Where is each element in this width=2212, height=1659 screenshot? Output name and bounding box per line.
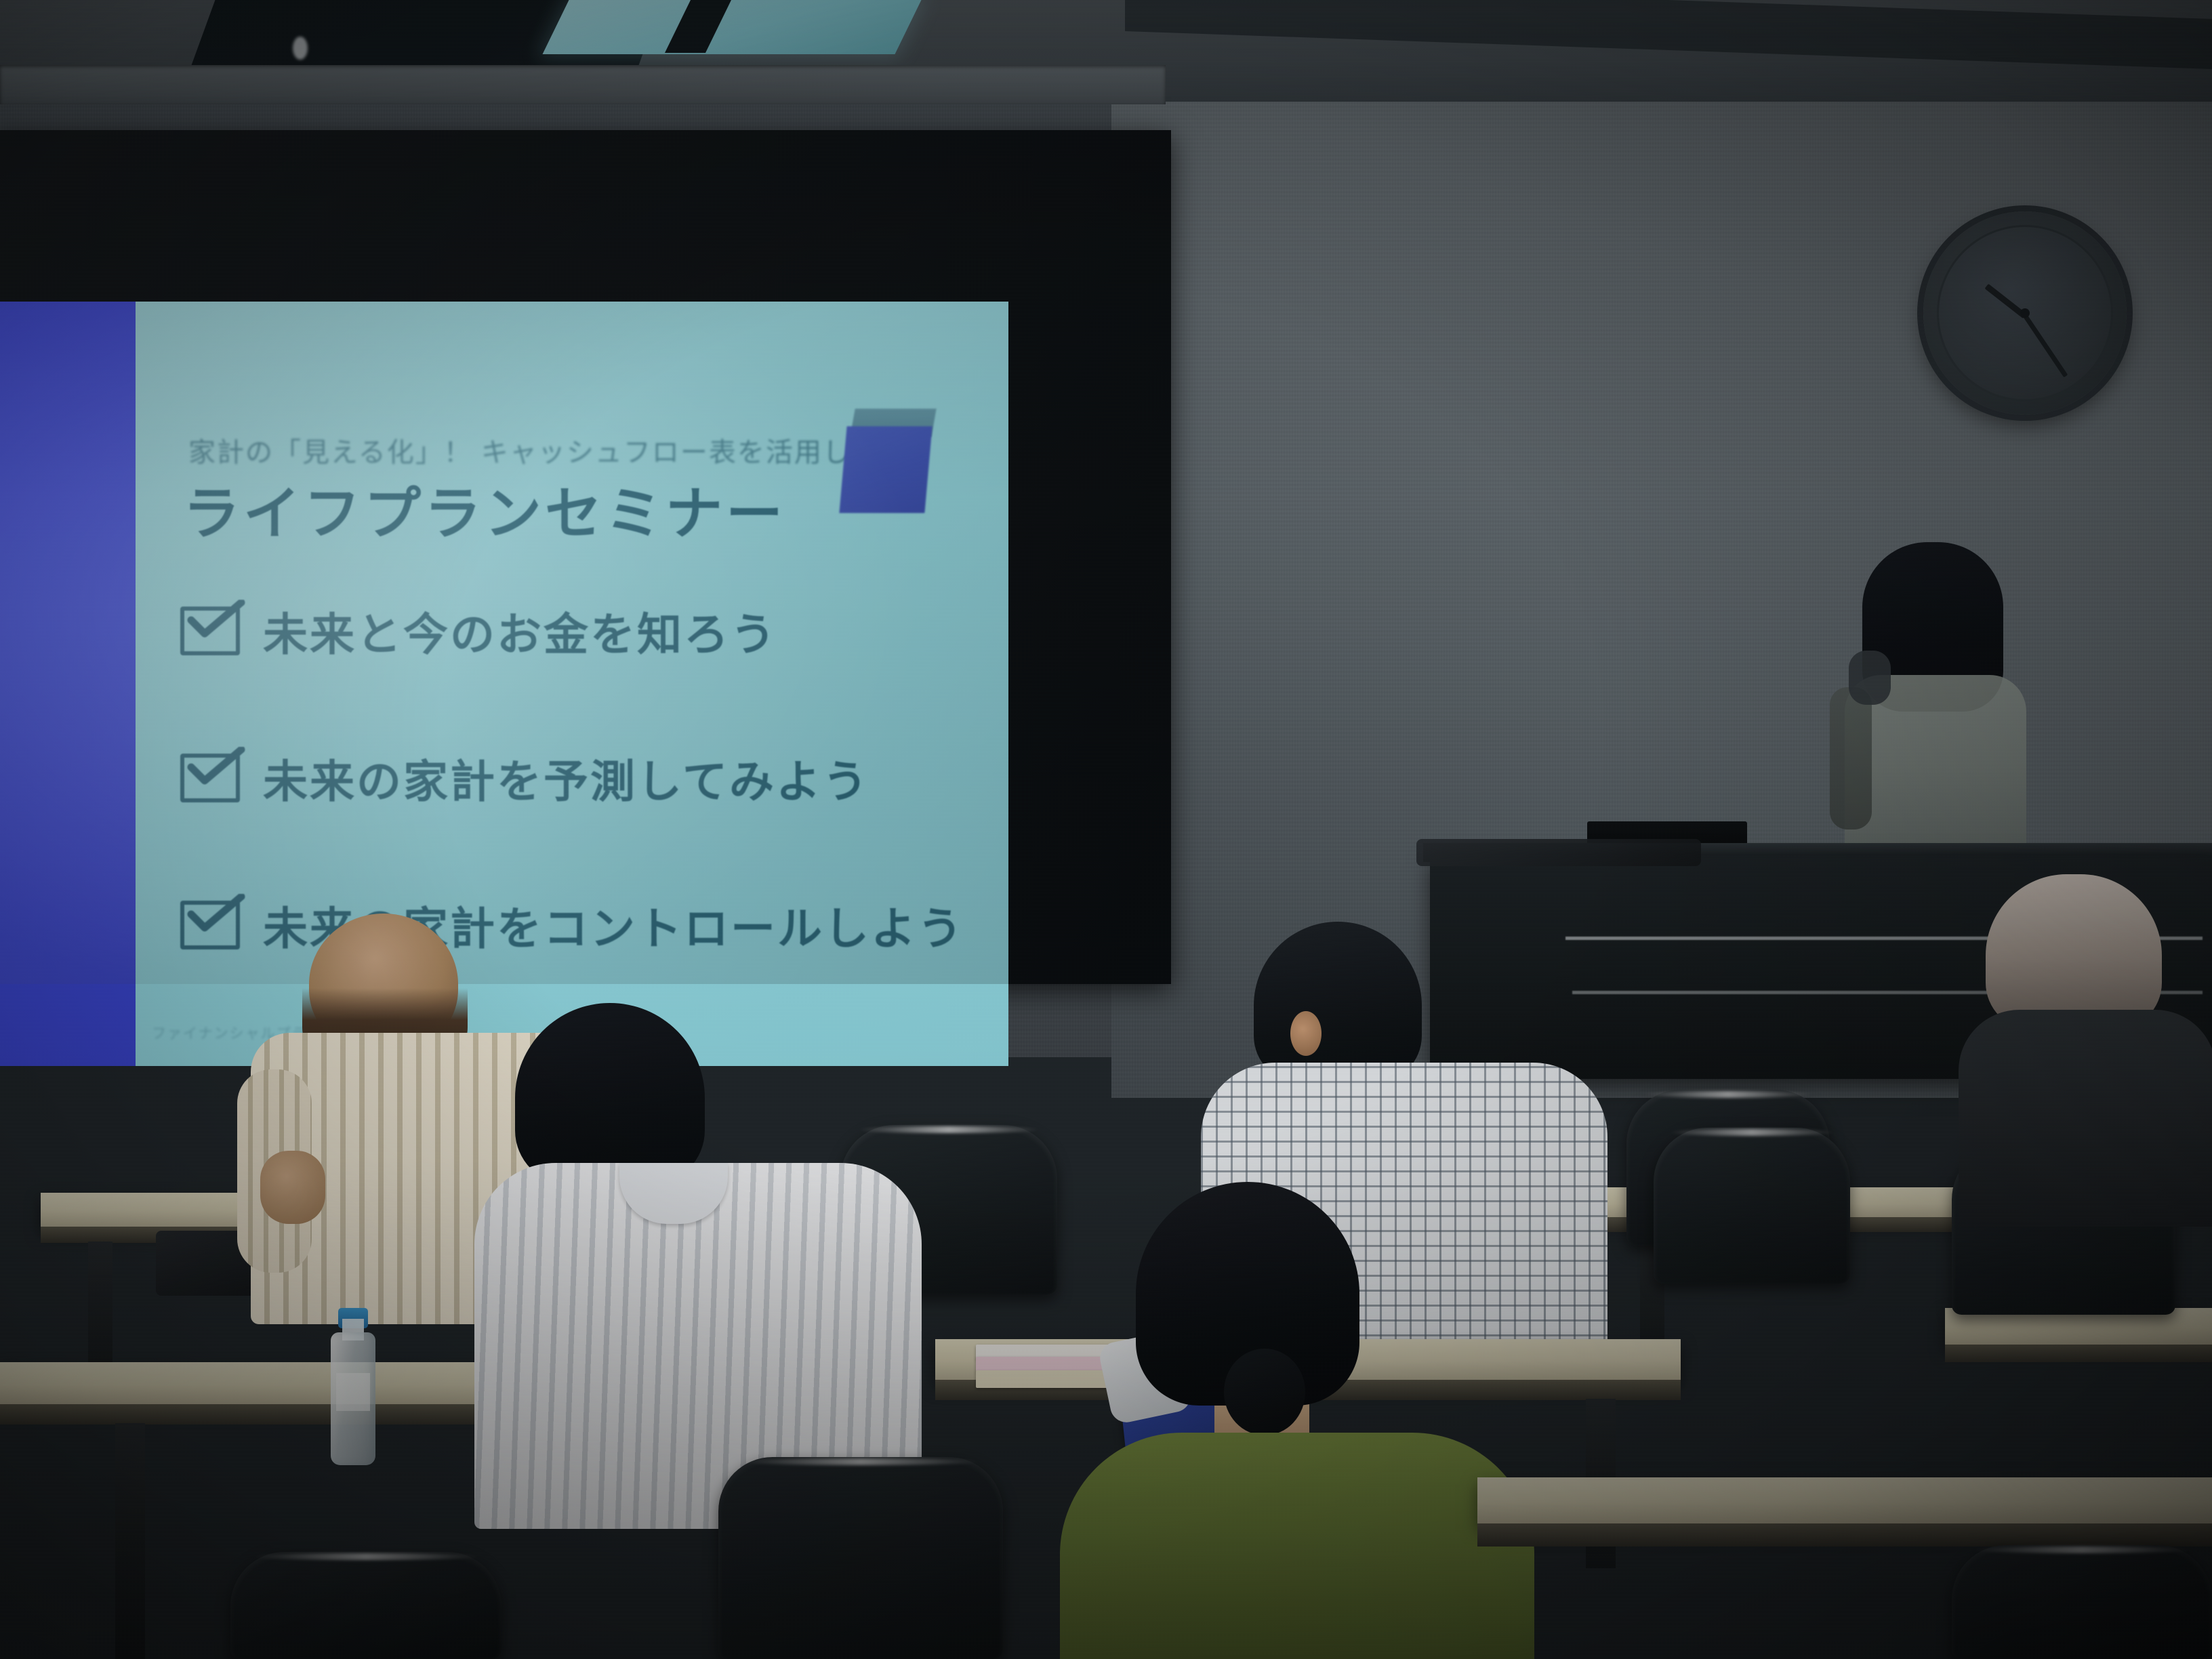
audience-member-green-top [1095, 1182, 1570, 1659]
slide-title: ライフプランセミナー [183, 468, 786, 550]
bullet-label: 未来と今のお金を知ろう [263, 598, 777, 663]
ceiling-tile [0, 65, 1166, 104]
chair [1654, 1128, 1850, 1284]
desk [1477, 1477, 2212, 1525]
chair [1952, 1545, 2212, 1659]
presenter-arm [1830, 687, 1872, 829]
arm [237, 1069, 312, 1273]
list-item: 未来の家計を予測してみよう [180, 740, 964, 816]
ceiling-spot-icon [293, 37, 308, 60]
desk-edge [1945, 1345, 2212, 1362]
bottle-label [336, 1373, 370, 1411]
head [1254, 922, 1422, 1083]
water-bottle [331, 1308, 375, 1465]
torso [1060, 1433, 1534, 1659]
lectern-shelf [1416, 839, 1701, 866]
presenter-hand [1849, 651, 1891, 705]
hand [260, 1151, 325, 1224]
desk [0, 1362, 515, 1406]
wall-clock-icon [1923, 211, 2127, 415]
checkbox-checked-icon [180, 754, 240, 802]
projection-screen-frame: 家計の「見える化」！ キャッシュフロー表を活用した ライフプランセミナー 未来と… [0, 130, 1171, 984]
bullet-label: 未来の家計を予測してみよう [263, 745, 869, 811]
ceiling-light-panel [542, 0, 921, 54]
audience-member-right [1986, 874, 2212, 1240]
head [515, 1003, 705, 1185]
slide-accent-band [0, 302, 136, 1066]
head [1986, 874, 2162, 1030]
presenter [1830, 542, 2053, 874]
chair [230, 1552, 501, 1659]
checkbox-checked-icon [180, 607, 240, 655]
seminar-room-photo: 家計の「見える化」！ キャッシュフロー表を活用した ライフプランセミナー 未来と… [0, 0, 2212, 1659]
chair [718, 1457, 1003, 1659]
desk-edge [0, 1404, 515, 1425]
book-icon [839, 402, 934, 514]
list-item: 未来と今のお金を知ろう [180, 593, 964, 669]
checkbox-checked-icon [180, 901, 240, 949]
ear [1290, 1011, 1322, 1056]
slide-subtitle: 家計の「見える化」！ キャッシュフロー表を活用した [188, 430, 873, 470]
torso [1959, 1010, 2212, 1227]
desk-leg [115, 1423, 145, 1659]
hair-bun [1224, 1349, 1305, 1435]
desk-edge [1477, 1523, 2212, 1547]
